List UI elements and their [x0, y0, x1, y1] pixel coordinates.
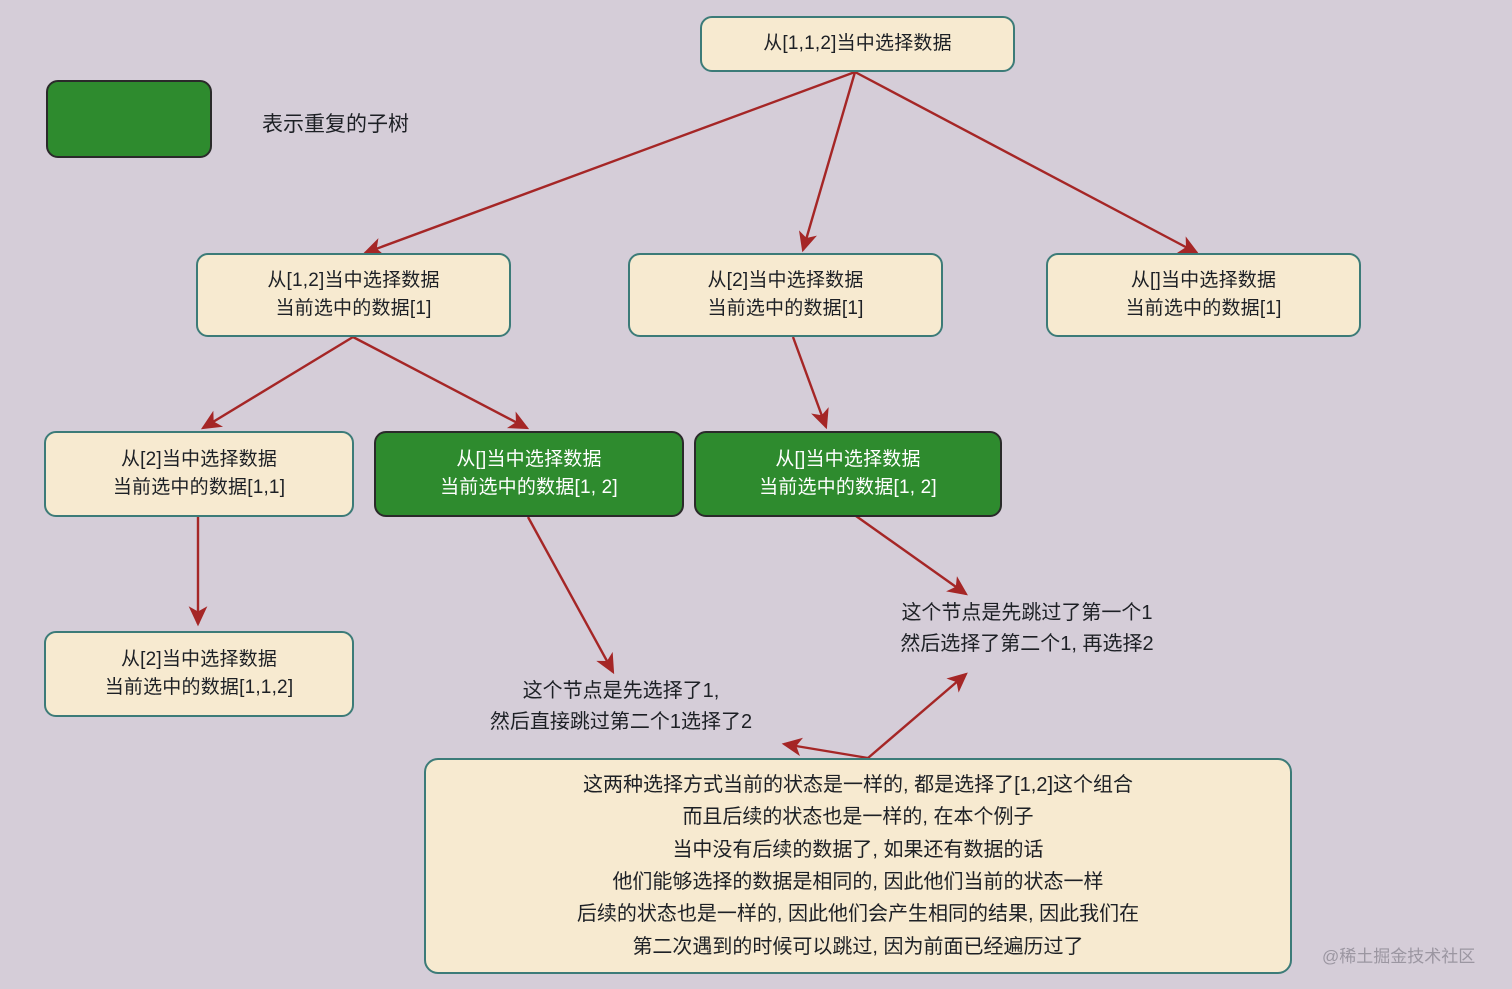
node-l1-a[interactable]: 从[1,2]当中选择数据 当前选中的数据[1] [196, 253, 511, 337]
edge-root-to-l1c [855, 72, 1197, 253]
node-root[interactable]: 从[1,1,2]当中选择数据 [700, 16, 1015, 72]
node-root-line-1: 从[1,1,2]当中选择数据 [763, 30, 952, 58]
explanation-box[interactable]: 这两种选择方式当前的状态是一样的, 都是选择了[1,2]这个组合 而且后续的状态… [424, 758, 1292, 974]
node-l1-a-line-2: 当前选中的数据[1] [275, 295, 431, 323]
explanation-line-3: 当中没有后续的数据了, 如果还有数据的话 [672, 834, 1043, 866]
annotation-left-line-1: 这个节点是先选择了1, [466, 676, 776, 707]
node-l2-a-line-2: 当前选中的数据[1,1] [113, 474, 285, 502]
edge-l2c-to-annot-right [856, 516, 966, 594]
node-l2-c-duplicate[interactable]: 从[]当中选择数据 当前选中的数据[1, 2] [694, 431, 1002, 517]
edge-l1a-to-l2b [353, 337, 527, 428]
annotation-right-line-2: 然后选择了第二个1, 再选择2 [862, 629, 1192, 660]
explanation-line-1: 这两种选择方式当前的状态是一样的, 都是选择了[1,2]这个组合 [583, 769, 1133, 801]
node-l2-b-line-2: 当前选中的数据[1, 2] [440, 474, 618, 502]
node-l2-a[interactable]: 从[2]当中选择数据 当前选中的数据[1,1] [44, 431, 354, 517]
node-l3-a[interactable]: 从[2]当中选择数据 当前选中的数据[1,1,2] [44, 631, 354, 717]
explanation-line-4: 他们能够选择的数据是相同的, 因此他们当前的状态一样 [612, 866, 1103, 898]
annotation-right-line-1: 这个节点是先跳过了第一个1 [862, 598, 1192, 629]
annotation-left: 这个节点是先选择了1, 然后直接跳过第二个1选择了2 [466, 676, 776, 738]
annotation-left-line-2: 然后直接跳过第二个1选择了2 [466, 707, 776, 738]
edge-box-to-annot-left [784, 744, 868, 758]
node-l1-c-line-2: 当前选中的数据[1] [1125, 295, 1281, 323]
node-l2-a-line-1: 从[2]当中选择数据 [121, 446, 277, 474]
edge-root-to-l1a [365, 72, 855, 253]
watermark: @稀土掘金技术社区 [1322, 942, 1475, 967]
legend-duplicate-swatch [46, 80, 212, 158]
edge-l2b-to-annot-left [528, 517, 613, 672]
edge-box-to-annot-right [868, 674, 966, 758]
node-l1-b-line-1: 从[2]当中选择数据 [707, 267, 863, 295]
edge-l1a-to-l2a [203, 337, 353, 428]
node-l1-a-line-1: 从[1,2]当中选择数据 [267, 267, 439, 295]
node-l2-b-duplicate[interactable]: 从[]当中选择数据 当前选中的数据[1, 2] [374, 431, 684, 517]
edge-l1b-to-l2c [793, 337, 826, 427]
node-l1-b[interactable]: 从[2]当中选择数据 当前选中的数据[1] [628, 253, 943, 337]
edge-root-to-l1b [803, 72, 855, 250]
node-l1-c-line-1: 从[]当中选择数据 [1131, 267, 1276, 295]
node-l3-a-line-2: 当前选中的数据[1,1,2] [105, 674, 294, 702]
annotation-right: 这个节点是先跳过了第一个1 然后选择了第二个1, 再选择2 [862, 598, 1192, 660]
node-l2-c-line-1: 从[]当中选择数据 [775, 446, 920, 474]
explanation-line-5: 后续的状态也是一样的, 因此他们会产生相同的结果, 因此我们在 [577, 898, 1139, 930]
node-l2-b-line-1: 从[]当中选择数据 [456, 446, 601, 474]
node-l1-c[interactable]: 从[]当中选择数据 当前选中的数据[1] [1046, 253, 1361, 337]
node-l2-c-line-2: 当前选中的数据[1, 2] [759, 474, 937, 502]
diagram-canvas: 表示重复的子树 从[1,1,2]当中选择数据 从[1,2]当中选择数据 当前选中… [0, 0, 1512, 989]
legend-duplicate-label: 表示重复的子树 [262, 108, 409, 138]
node-l3-a-line-1: 从[2]当中选择数据 [121, 646, 277, 674]
node-l1-b-line-2: 当前选中的数据[1] [707, 295, 863, 323]
explanation-line-6: 第二次遇到的时候可以跳过, 因为前面已经遍历过了 [632, 931, 1083, 963]
explanation-line-2: 而且后续的状态也是一样的, 在本个例子 [682, 801, 1033, 833]
